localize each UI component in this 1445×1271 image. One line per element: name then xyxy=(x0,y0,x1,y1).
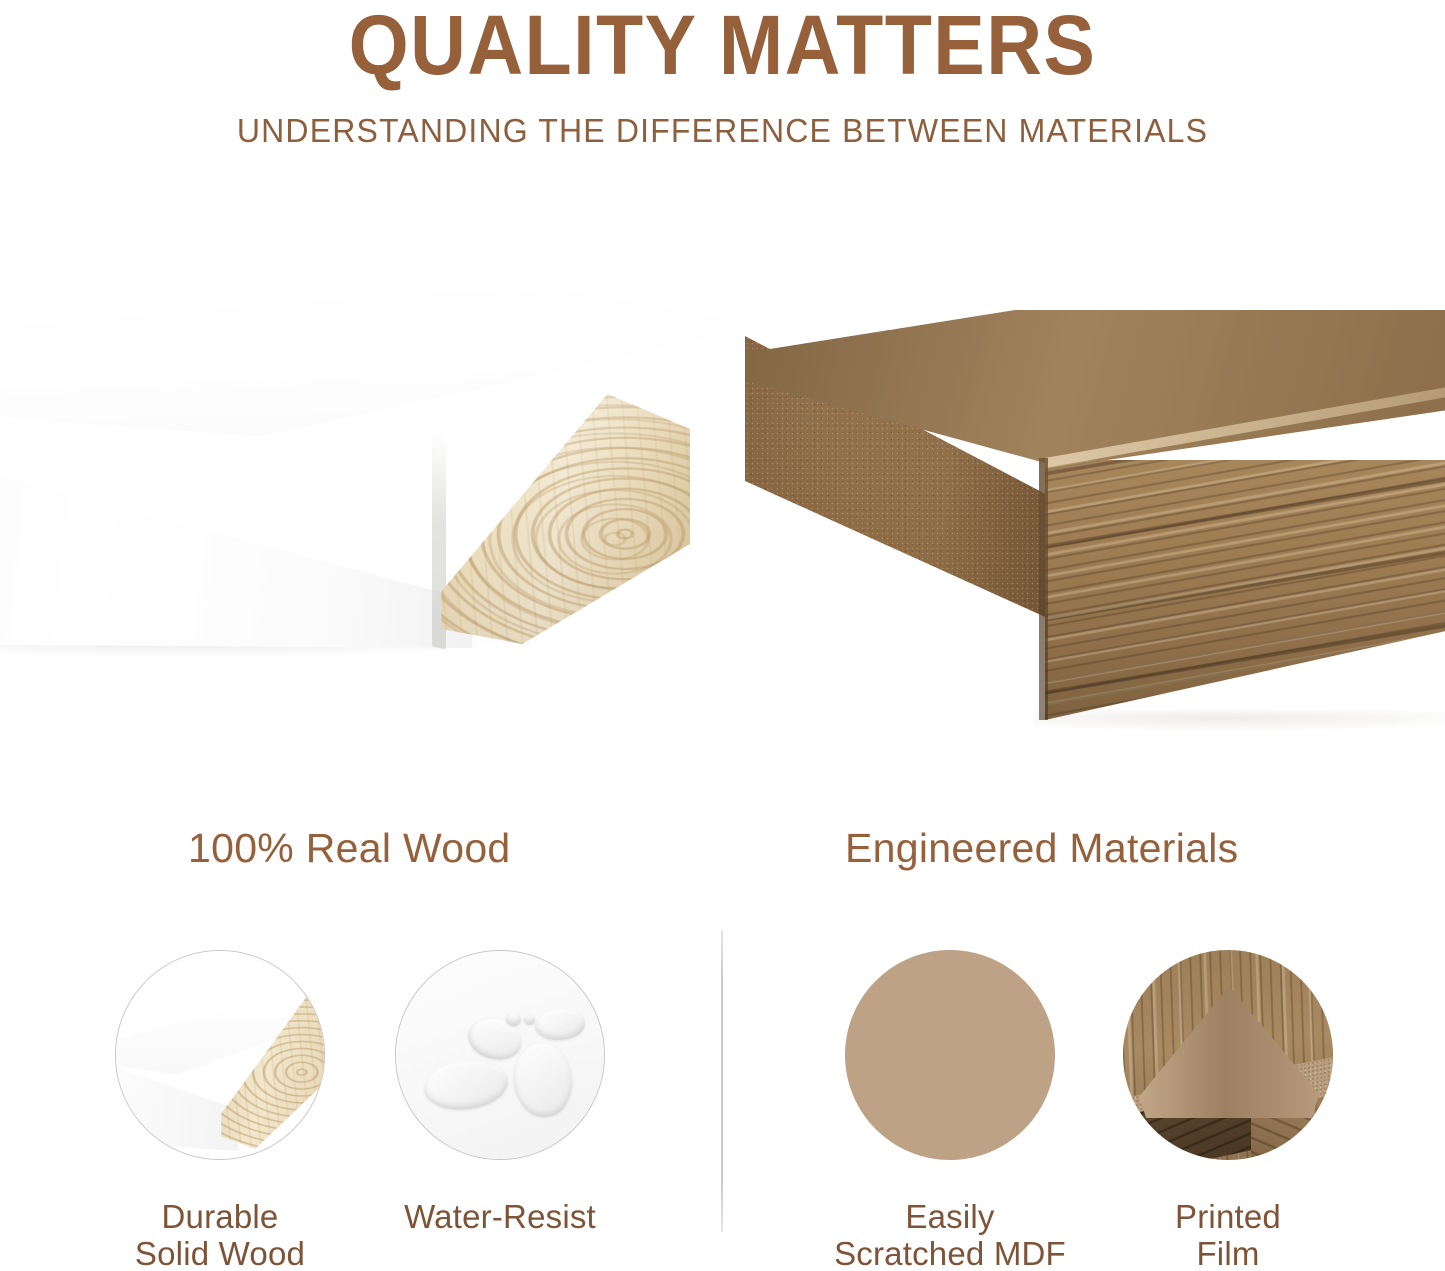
wood-end-grain-shading xyxy=(440,394,690,644)
solid-wood-shelf-icon xyxy=(115,950,325,1160)
mdf-surface-texture xyxy=(845,950,1055,1160)
infographic-page: QUALITY MATTERS UNDERSTANDING THE DIFFER… xyxy=(0,0,1445,1271)
section-divider xyxy=(721,930,723,1232)
feature-water-resist: Water-Resist xyxy=(365,950,635,1235)
section-heading-engineered-materials: Engineered Materials xyxy=(845,824,1238,872)
water-droplet xyxy=(524,1015,535,1025)
feature-label: Durable Solid Wood xyxy=(85,1198,355,1271)
mdf-particle-texture-icon xyxy=(845,950,1055,1160)
page-subtitle: UNDERSTANDING THE DIFFERENCE BETWEEN MAT… xyxy=(22,112,1424,150)
feature-label: Printed Film xyxy=(1093,1198,1363,1271)
shelf-corner-edge xyxy=(1039,458,1048,720)
printed-film-front-face xyxy=(1045,460,1445,720)
film-illustration xyxy=(1123,950,1333,1160)
hero-image-row xyxy=(0,250,1445,720)
water-droplet xyxy=(534,1007,586,1041)
droplet-surface xyxy=(396,951,604,1159)
feature-label: Water-Resist xyxy=(365,1198,635,1235)
water-droplets-icon xyxy=(395,950,605,1160)
engineered-shelf-image xyxy=(745,310,1445,670)
mini-shelf-background xyxy=(116,951,324,1159)
solid-wood-shelf-image xyxy=(0,280,730,680)
peeling-printed-film-icon xyxy=(1123,950,1333,1160)
feature-printed-film: Printed Film xyxy=(1093,950,1363,1271)
shelf-front-face xyxy=(0,398,472,648)
water-droplet xyxy=(421,1056,510,1114)
feature-easily-scratched-mdf: Easily Scratched MDF xyxy=(815,950,1085,1271)
section-heading-real-wood: 100% Real Wood xyxy=(188,824,511,872)
water-droplet xyxy=(506,1013,521,1026)
feature-durable-solid-wood: Durable Solid Wood xyxy=(85,950,355,1271)
feature-label: Easily Scratched MDF xyxy=(815,1198,1085,1271)
shelf-shadow xyxy=(1035,710,1445,732)
water-droplet xyxy=(510,1040,575,1120)
header: QUALITY MATTERS UNDERSTANDING THE DIFFER… xyxy=(0,0,1445,150)
page-title: QUALITY MATTERS xyxy=(58,0,1387,88)
